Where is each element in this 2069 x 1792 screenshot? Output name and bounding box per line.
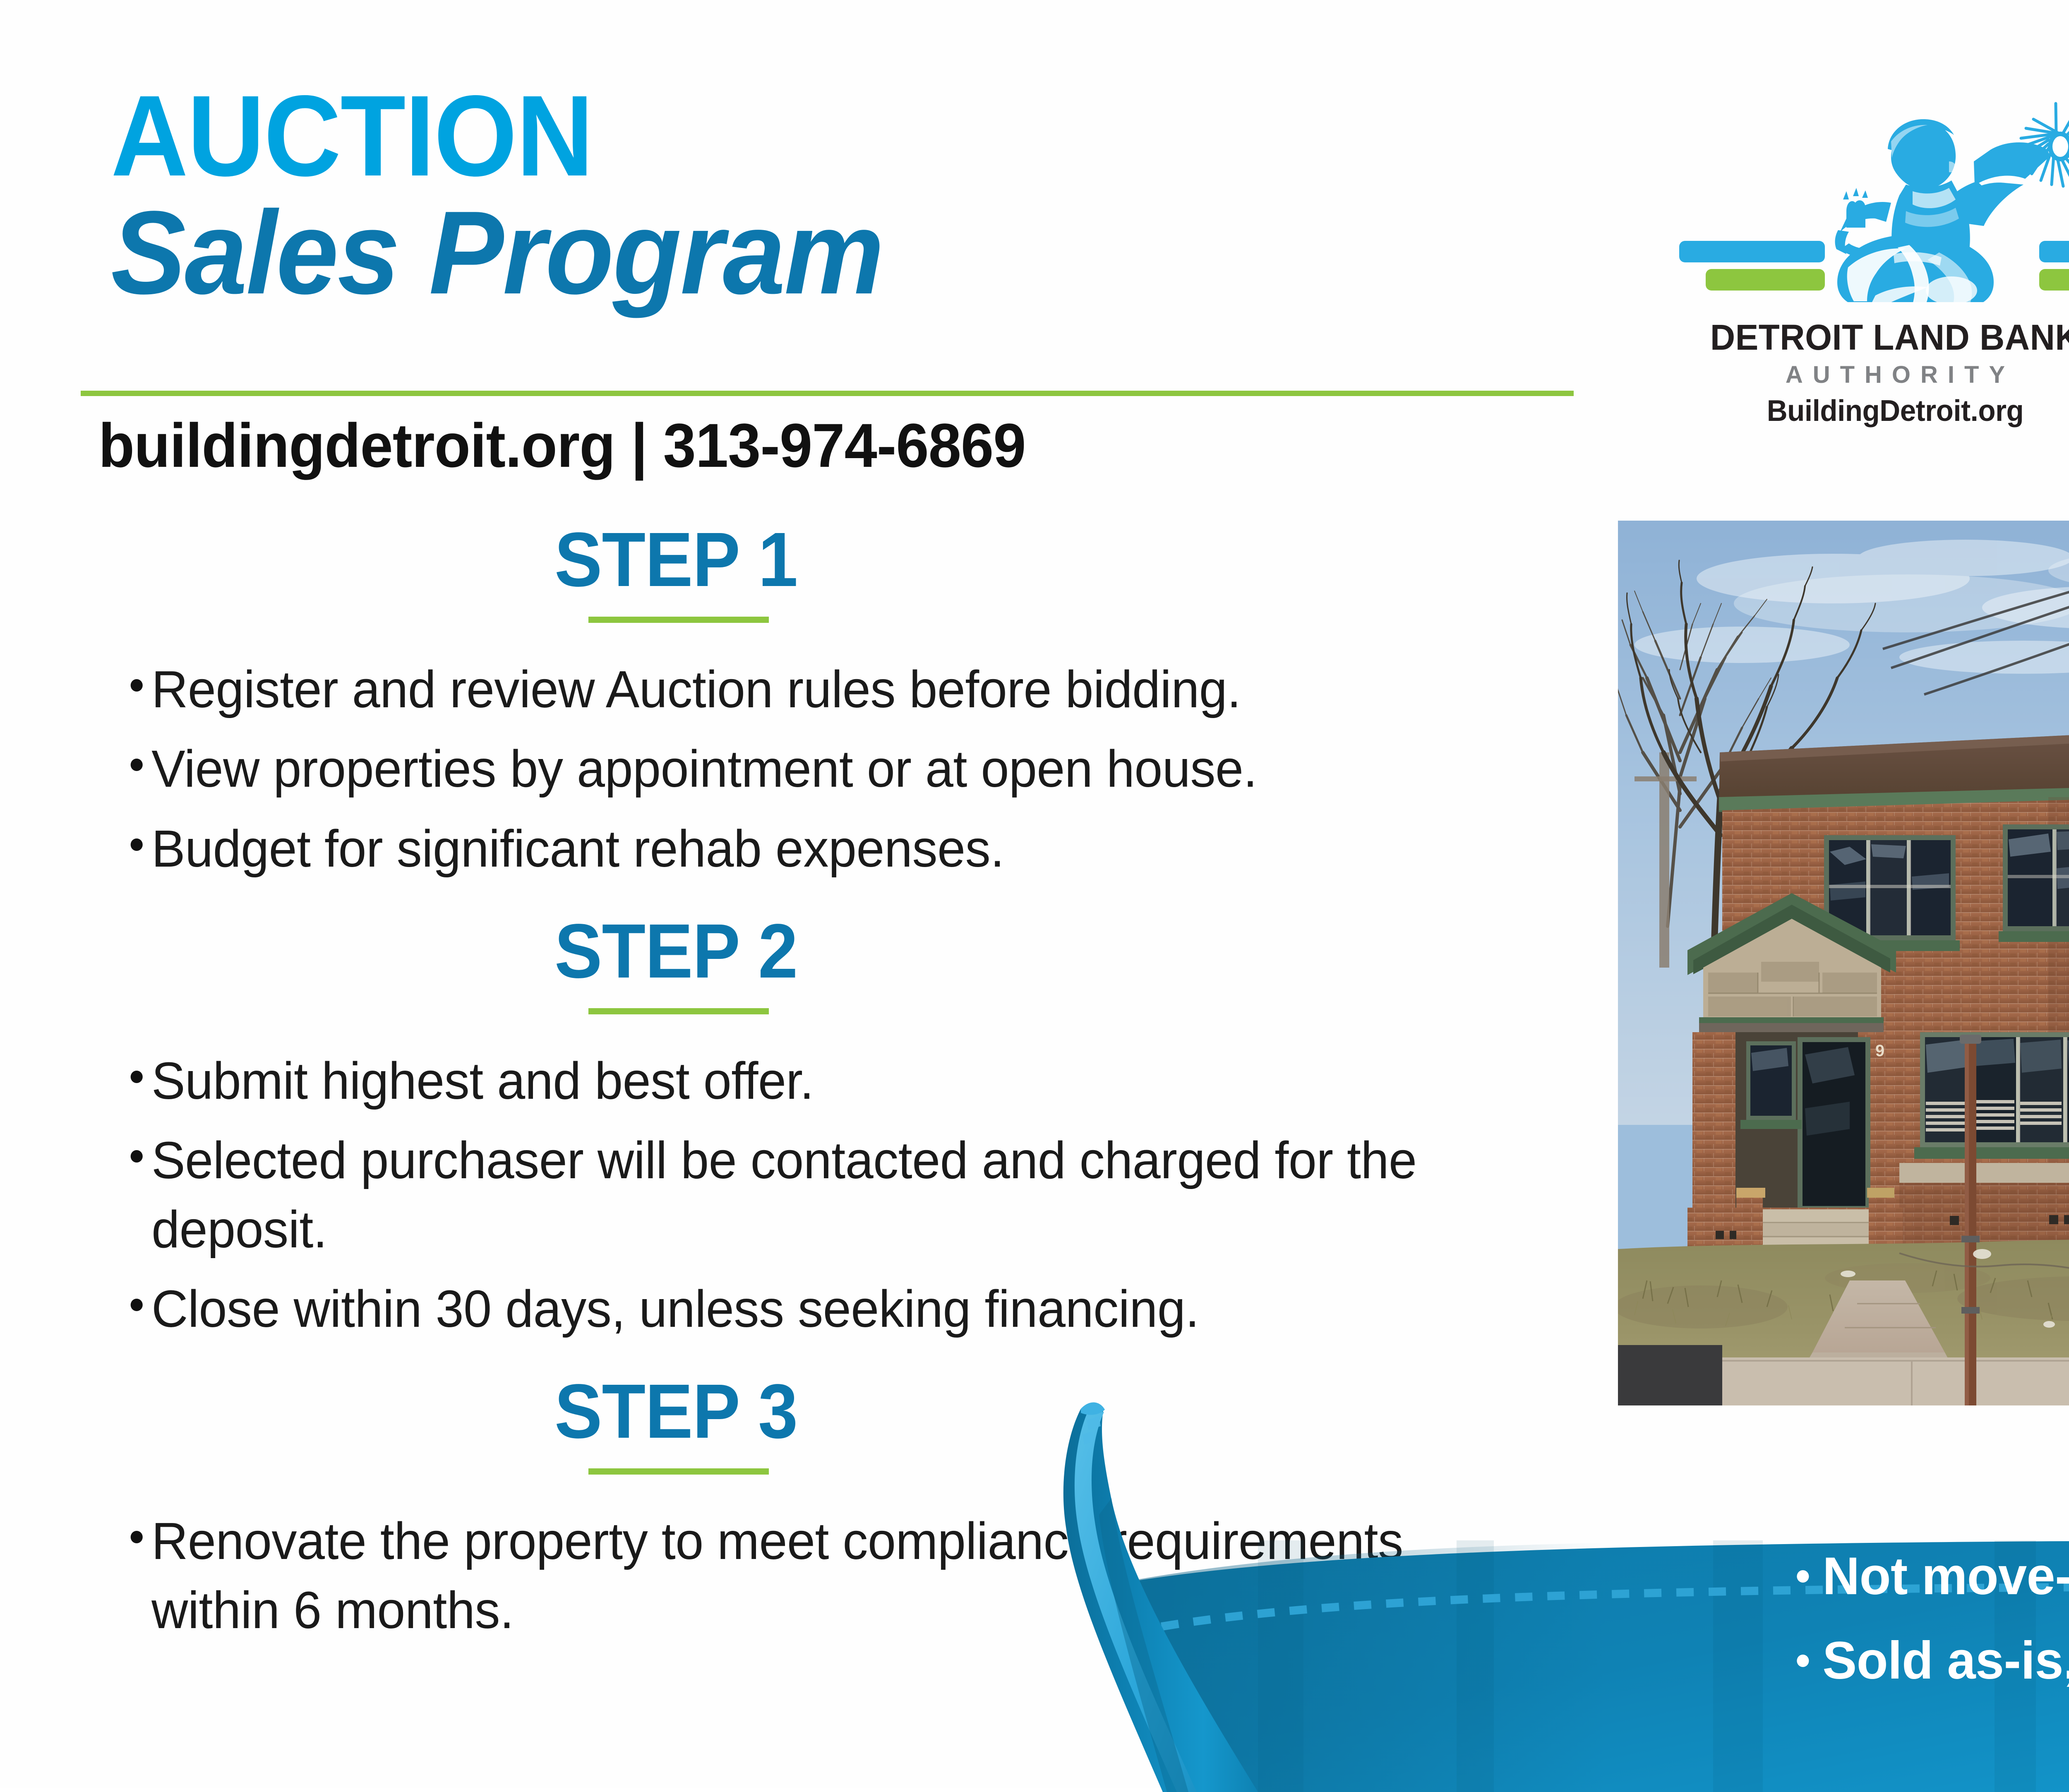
list-item: Submit highest and best offer. xyxy=(99,1047,1496,1115)
logo-accent-bars xyxy=(1659,241,2069,291)
step-1-title: STEP 1 xyxy=(554,521,797,598)
bottom-ribbon-banner: Not move-in ready Sold as-is, where-is xyxy=(1026,1395,2069,1792)
logo-url[interactable]: BuildingDetroit.org xyxy=(1669,394,2069,428)
step-2-title: STEP 2 xyxy=(554,913,797,990)
list-item: Close within 30 days, unless seeking fin… xyxy=(99,1275,1496,1343)
step-3-title: STEP 3 xyxy=(554,1373,797,1450)
step-2-underline xyxy=(588,1008,769,1014)
title-sales-program: Sales Program xyxy=(111,191,1290,314)
logo-bar-green-left xyxy=(1706,269,1825,291)
ribbon-bullet-block: Not move-in ready Sold as-is, where-is xyxy=(1788,1549,2069,1718)
flyer-canvas: AUCTION Sales Program buildingdetroit.or… xyxy=(0,0,2069,1788)
step-3-underline xyxy=(588,1468,769,1475)
list-item: Budget for significant rehab expenses. xyxy=(99,814,1496,883)
svg-text:9: 9 xyxy=(1875,1042,1884,1060)
logo-bar-blue-left xyxy=(1679,241,1825,262)
property-photo: 9 xyxy=(1618,521,2069,1405)
step-1-underline xyxy=(588,617,769,623)
step-group-1: STEP 1 Register and review Auction rules… xyxy=(99,521,1539,883)
list-item: Not move-in ready xyxy=(1788,1549,2069,1604)
detroit-land-bank-logo: DETROIT LAND BANK AUTHORITY BuildingDetr… xyxy=(1659,87,2069,422)
logo-bar-blue-right xyxy=(2039,241,2069,262)
step-1-bullet-list: Register and review Auction rules before… xyxy=(99,655,1539,883)
logo-subname: AUTHORITY xyxy=(1659,361,2069,389)
list-item: Register and review Auction rules before… xyxy=(99,655,1496,724)
logo-name: DETROIT LAND BANK xyxy=(1669,317,2069,358)
spirit-of-detroit-icon xyxy=(1659,87,2069,319)
ribbon-bullet-list: Not move-in ready Sold as-is, where-is xyxy=(1788,1549,2069,1689)
list-item: Selected purchaser will be contacted and… xyxy=(99,1126,1496,1264)
step-2-bullet-list: Submit highest and best offer. Selected … xyxy=(99,1047,1539,1343)
flyer-title-block: AUCTION Sales Program xyxy=(111,83,1352,314)
step-1-heading-row: STEP 1 xyxy=(99,521,1539,598)
logo-bar-green-right xyxy=(2039,269,2069,291)
list-item: Sold as-is, where-is xyxy=(1788,1633,2069,1689)
list-item: View properties by appointment or at ope… xyxy=(99,735,1496,803)
title-auction: AUCTION xyxy=(111,83,1265,189)
step-2-heading-row: STEP 2 xyxy=(99,913,1539,990)
step-group-2: STEP 2 Submit highest and best offer. Se… xyxy=(99,913,1539,1343)
title-divider-rule xyxy=(81,391,1574,396)
contact-line[interactable]: buildingdetroit.org | 313-974-6869 xyxy=(98,410,1026,481)
